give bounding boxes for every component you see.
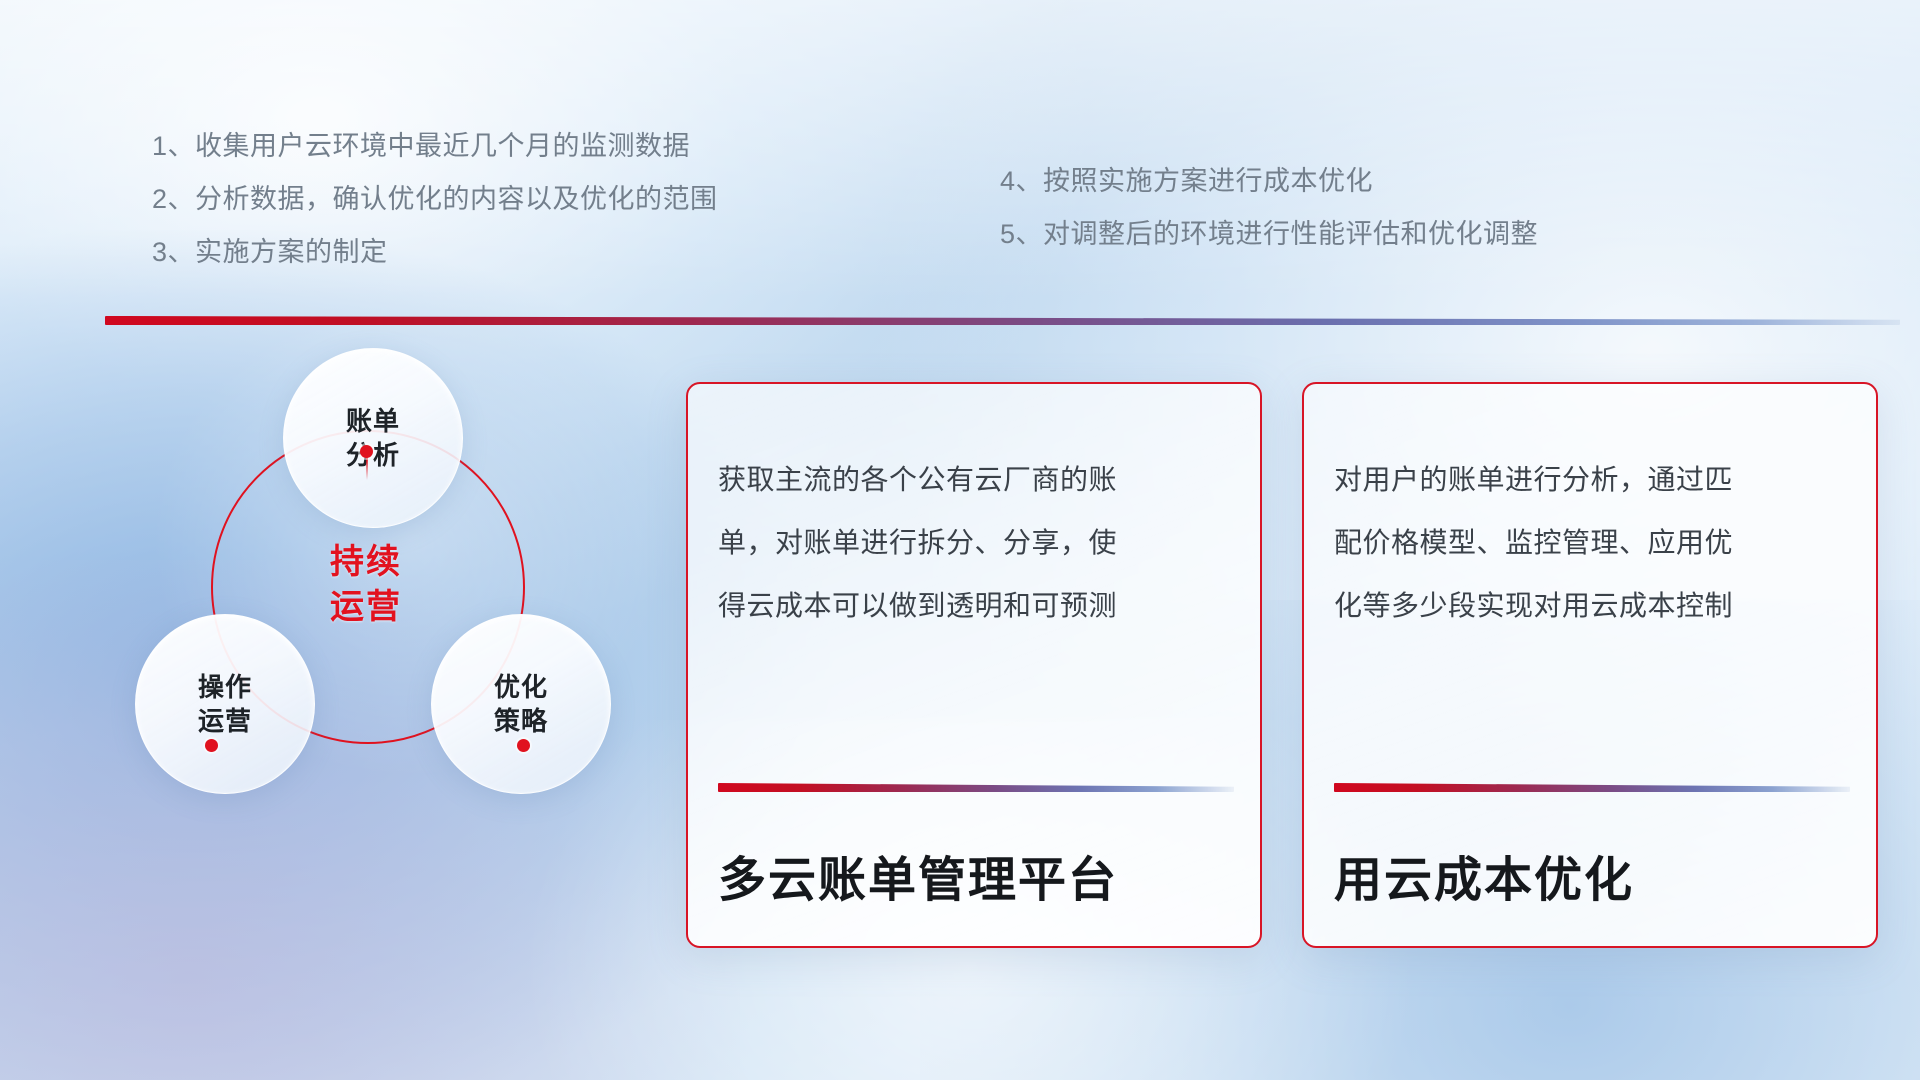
steps-right-column: 4、按照实施方案进行成本优化 5、对调整后的环境进行性能评估和优化调整 <box>1000 155 1538 261</box>
venn-bubble-optimization-strategy-line2: 策略 <box>494 704 548 738</box>
venn-bubble-operations[interactable]: 操作 运营 <box>135 614 315 794</box>
card-1-title: 多云账单管理平台 <box>718 792 1234 924</box>
card-2-title: 用云成本优化 <box>1334 792 1850 924</box>
card-2-inner: 对用户的账单进行分析，通过匹 配价格模型、监控管理、应用优 化等多少段实现对用云… <box>1334 406 1850 924</box>
venn-bubble-optimization-strategy-line1: 优化 <box>494 670 548 704</box>
venn-bubble-bill-analysis-line1: 账单 <box>346 404 400 438</box>
card-2-body-line-3: 化等多少段实现对用云成本控制 <box>1334 574 1850 637</box>
card-2-body-line-2: 配价格模型、监控管理、应用优 <box>1334 511 1850 574</box>
process-steps-section: 1、收集用户云环境中最近几个月的监测数据 2、分析数据，确认优化的内容以及优化的… <box>0 0 1920 270</box>
step-item-5: 5、对调整后的环境进行性能评估和优化调整 <box>1000 208 1538 261</box>
card-1-divider <box>718 783 1234 792</box>
venn-bubble-bill-analysis-line2: 分析 <box>346 438 400 472</box>
steps-left-column: 1、收集用户云环境中最近几个月的监测数据 2、分析数据，确认优化的内容以及优化的… <box>152 120 718 279</box>
venn-bubble-optimization-strategy[interactable]: 优化 策略 <box>431 614 611 794</box>
step-item-2: 2、分析数据，确认优化的内容以及优化的范围 <box>152 173 718 226</box>
card-multi-cloud-bill-platform[interactable]: 获取主流的各个公有云厂商的账 单，对账单进行拆分、分享，使 得云成本可以做到透明… <box>686 382 1262 948</box>
card-1-inner: 获取主流的各个公有云厂商的账 单，对账单进行拆分、分享，使 得云成本可以做到透明… <box>718 406 1234 924</box>
card-2-body-line-1: 对用户的账单进行分析，通过匹 <box>1334 448 1850 511</box>
venn-bubble-operations-line1: 操作 <box>198 670 252 704</box>
step-item-3: 3、实施方案的制定 <box>152 226 718 279</box>
card-cloud-cost-optimization[interactable]: 对用户的账单进行分析，通过匹 配价格模型、监控管理、应用优 化等多少段实现对用云… <box>1302 382 1878 948</box>
card-1-body-line-1: 获取主流的各个公有云厂商的账 <box>718 448 1234 511</box>
card-2-body: 对用户的账单进行分析，通过匹 配价格模型、监控管理、应用优 化等多少段实现对用云… <box>1334 448 1850 637</box>
continuous-operations-venn-diagram: 账单 分析 操作 运营 优化 策略 持续 运营 <box>95 350 655 950</box>
venn-bubble-bill-analysis[interactable]: 账单 分析 <box>283 348 463 528</box>
venn-node-dot-top <box>360 445 373 458</box>
venn-connector-tick-top <box>366 456 368 480</box>
card-1-body-line-3: 得云成本可以做到透明和可预测 <box>718 574 1234 637</box>
venn-node-dot-bottom-left <box>205 739 218 752</box>
card-2-divider <box>1334 783 1850 792</box>
card-1-body-line-2: 单，对账单进行拆分、分享，使 <box>718 511 1234 574</box>
venn-bubble-operations-line2: 运营 <box>198 704 252 738</box>
venn-node-dot-bottom-right <box>517 739 530 752</box>
card-1-body: 获取主流的各个公有云厂商的账 单，对账单进行拆分、分享，使 得云成本可以做到透明… <box>718 448 1234 637</box>
step-item-4: 4、按照实施方案进行成本优化 <box>1000 155 1538 208</box>
step-item-1: 1、收集用户云环境中最近几个月的监测数据 <box>152 120 718 173</box>
